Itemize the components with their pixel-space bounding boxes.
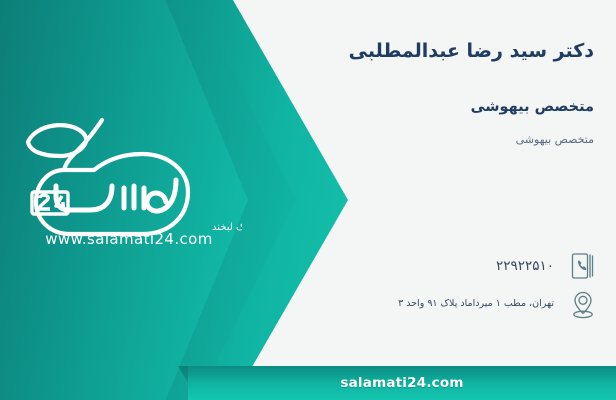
doctor-name: دکتر سید رضا عبدالمطلبی	[174, 38, 594, 65]
phone-number: ۲۲۹۲۲۵۱۰	[178, 258, 554, 274]
doctor-specialty-secondary: متخصص بیهوشی	[174, 133, 594, 146]
doctor-specialty-primary: متخصص بیهوشی	[174, 99, 594, 115]
phone-book-icon	[568, 250, 598, 282]
business-card: براحتی یک لبخند www.salamati24.com دکتر …	[0, 0, 616, 400]
contact-row-phone: ۲۲۹۲۲۵۱۰	[178, 250, 598, 282]
clinic-address: تهران، مطب ۱ میرداماد پلاک ۹۱ واحد ۳	[178, 297, 554, 311]
footer-website-url: salamati24.com	[188, 366, 616, 400]
apple-outline-logo-icon: براحتی یک لبخند	[16, 108, 242, 238]
brand-logo: براحتی یک لبخند www.salamati24.com	[16, 108, 242, 268]
contact-row-address: تهران، مطب ۱ میرداماد پلاک ۹۱ واحد ۳	[178, 288, 598, 320]
logo-url: www.salamati24.com	[16, 230, 242, 248]
footer-bar: salamati24.com	[188, 366, 616, 400]
location-pin-icon	[568, 288, 598, 320]
